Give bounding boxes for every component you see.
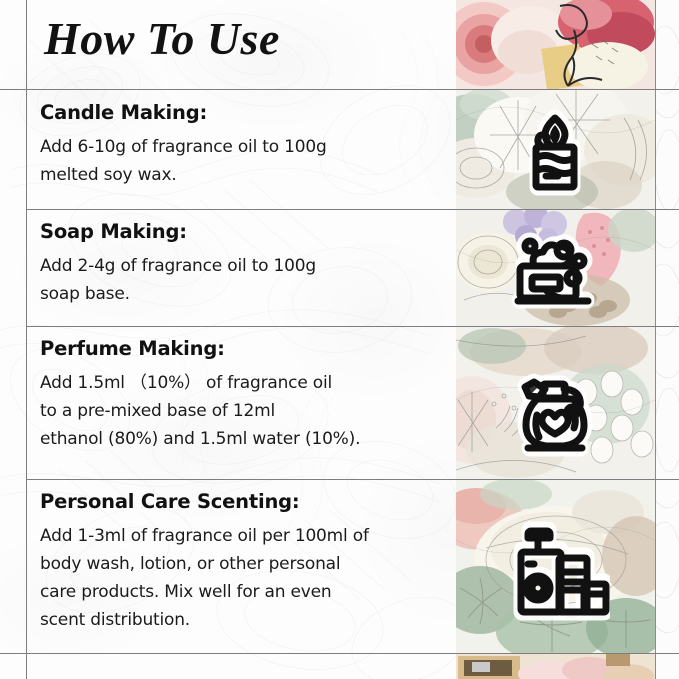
section-body-personal-care-scenting: Add 1-3ml of fragrance oil per 100ml of … <box>40 522 440 634</box>
section-candle-making: Candle Making: Add 6-10g of fragrance oi… <box>40 101 440 189</box>
table-left-vertical-rule <box>26 0 27 679</box>
divider-bottom <box>0 653 679 654</box>
divider-candle-soap <box>26 209 679 210</box>
section-heading-personal-care-scenting: Personal Care Scenting: <box>40 490 440 513</box>
candle-icon <box>500 100 610 200</box>
section-body-candle-making: Add 6-10g of fragrance oil to 100g melte… <box>40 133 440 189</box>
section-body-perfume-making: Add 1.5ml （10%） of fragrance oil to a pr… <box>40 369 440 453</box>
section-heading-perfume-making: Perfume Making: <box>40 337 440 360</box>
soap-bar-icon <box>500 222 610 318</box>
section-personal-care-scenting: Personal Care Scenting: Add 1-3ml of fra… <box>40 490 440 634</box>
section-heading-soap-making: Soap Making: <box>40 220 440 243</box>
divider-soap-perfume <box>26 326 679 327</box>
divider-perfume-personal <box>26 479 679 480</box>
table-right-vertical-rule <box>655 0 656 679</box>
section-perfume-making: Perfume Making: Add 1.5ml （10%） of fragr… <box>40 337 440 453</box>
section-heading-candle-making: Candle Making: <box>40 101 440 124</box>
section-body-soap-making: Add 2-4g of fragrance oil to 100g soap b… <box>40 252 440 308</box>
how-to-use-infographic: How To Use Candle Making: Add 6-10g of f… <box>0 0 679 679</box>
right-faded-margin-strip <box>655 0 679 679</box>
page-title: How To Use <box>44 14 280 65</box>
perfume-bottle-icon <box>500 352 610 464</box>
divider-title-candle <box>0 89 679 90</box>
personal-care-products-icon <box>500 512 610 632</box>
section-soap-making: Soap Making: Add 2-4g of fragrance oil t… <box>40 220 440 308</box>
